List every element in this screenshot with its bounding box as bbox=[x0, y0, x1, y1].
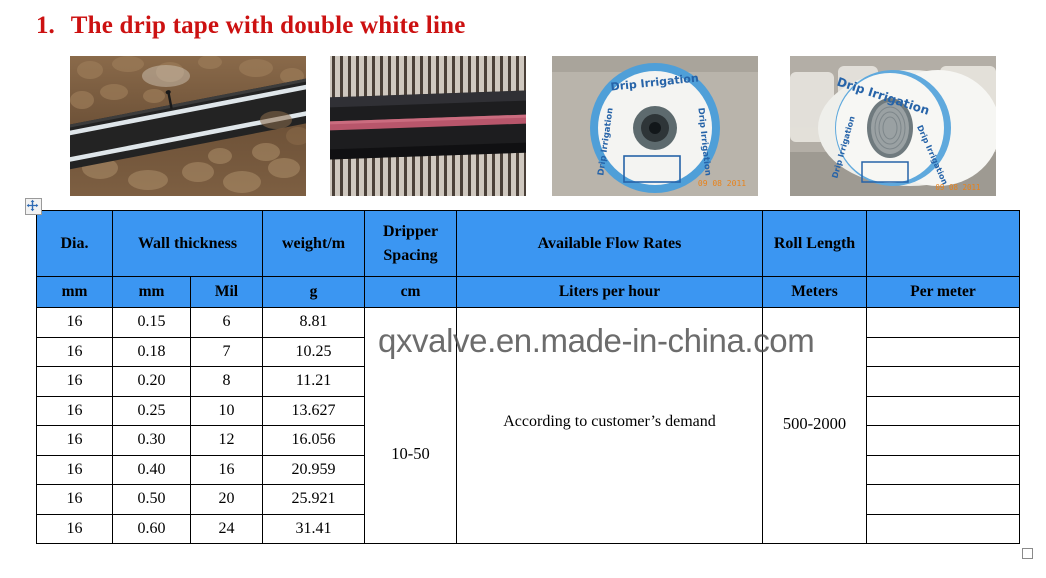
cell-weight: 8.81 bbox=[263, 308, 365, 338]
cell-dia: 16 bbox=[37, 485, 113, 515]
photo-drip-tape-closeup-on-ruler bbox=[330, 56, 526, 196]
cell-dripper-spacing-merged: 10-50 bbox=[365, 308, 457, 544]
cell-per-meter bbox=[867, 337, 1020, 367]
unit-spacing-cm: cm bbox=[365, 277, 457, 308]
cell-wall-mil: 24 bbox=[191, 514, 263, 544]
flow-rate-value: According to customer’s demand bbox=[459, 413, 760, 431]
spec-table-container: Dia. Wall thickness weight/m Dripper Spa… bbox=[36, 210, 1019, 544]
cell-wall-mm: 0.60 bbox=[113, 514, 191, 544]
title-number: 1. bbox=[36, 12, 55, 40]
cell-wall-mm: 0.25 bbox=[113, 396, 191, 426]
unit-wall-mm: mm bbox=[113, 277, 191, 308]
svg-text:09 08 2011: 09 08 2011 bbox=[698, 179, 746, 188]
drip-tape-spec-table: Dia. Wall thickness weight/m Dripper Spa… bbox=[36, 210, 1020, 544]
cell-dia: 16 bbox=[37, 337, 113, 367]
cell-wall-mil: 10 bbox=[191, 396, 263, 426]
page-title: 1. The drip tape with double white line bbox=[0, 0, 1046, 52]
cell-dia: 16 bbox=[37, 426, 113, 456]
cell-weight: 20.959 bbox=[263, 455, 365, 485]
table-resize-handle[interactable] bbox=[1022, 548, 1033, 559]
cell-dia: 16 bbox=[37, 367, 113, 397]
svg-text:09 08 2011: 09 08 2011 bbox=[935, 183, 980, 192]
cell-per-meter bbox=[867, 396, 1020, 426]
header-dia: Dia. bbox=[37, 211, 113, 277]
cell-per-meter bbox=[867, 308, 1020, 338]
product-photo-strip: Drip Irrigation Drip Irrigation Drip Irr… bbox=[0, 52, 1046, 202]
header-per-meter-top bbox=[867, 211, 1020, 277]
photo-drip-irrigation-spool-top-view: Drip Irrigation Drip Irrigation Drip Irr… bbox=[552, 56, 758, 196]
cell-per-meter bbox=[867, 455, 1020, 485]
cell-wall-mil: 7 bbox=[191, 337, 263, 367]
photo-drip-tape-in-soil bbox=[70, 56, 306, 196]
table-move-handle-icon[interactable] bbox=[25, 198, 42, 215]
cell-wall-mm: 0.15 bbox=[113, 308, 191, 338]
cell-dia: 16 bbox=[37, 308, 113, 338]
cell-dia: 16 bbox=[37, 514, 113, 544]
header-row-primary: Dia. Wall thickness weight/m Dripper Spa… bbox=[37, 211, 1020, 277]
cell-wall-mil: 20 bbox=[191, 485, 263, 515]
cell-dia: 16 bbox=[37, 455, 113, 485]
cell-weight: 25.921 bbox=[263, 485, 365, 515]
roll-length-value: 500-2000 bbox=[765, 414, 864, 434]
cell-dia: 16 bbox=[37, 396, 113, 426]
unit-weight-g: g bbox=[263, 277, 365, 308]
cell-per-meter bbox=[867, 485, 1020, 515]
cell-wall-mm: 0.20 bbox=[113, 367, 191, 397]
cell-per-meter bbox=[867, 514, 1020, 544]
photo-drip-irrigation-roll-angled: Drip Irrigation Drip Irrigation Drip Irr… bbox=[790, 56, 996, 196]
cell-wall-mil: 16 bbox=[191, 455, 263, 485]
cell-weight: 16.056 bbox=[263, 426, 365, 456]
cell-wall-mm: 0.30 bbox=[113, 426, 191, 456]
cell-wall-mil: 12 bbox=[191, 426, 263, 456]
cell-wall-mm: 0.18 bbox=[113, 337, 191, 367]
table-row: 16 0.15 6 8.81 10-50 According to custom… bbox=[37, 308, 1020, 338]
cell-wall-mil: 8 bbox=[191, 367, 263, 397]
unit-meters: Meters bbox=[763, 277, 867, 308]
cell-per-meter bbox=[867, 426, 1020, 456]
cell-weight: 10.25 bbox=[263, 337, 365, 367]
header-roll-length: Roll Length bbox=[763, 211, 867, 277]
unit-dia-mm: mm bbox=[37, 277, 113, 308]
cell-weight: 31.41 bbox=[263, 514, 365, 544]
title-text: The drip tape with double white line bbox=[71, 12, 466, 40]
cell-wall-mm: 0.50 bbox=[113, 485, 191, 515]
cell-weight: 11.21 bbox=[263, 367, 365, 397]
dripper-spacing-value: 10-50 bbox=[367, 444, 454, 464]
cell-wall-mil: 6 bbox=[191, 308, 263, 338]
cell-roll-length-merged: 500-2000 bbox=[763, 308, 867, 544]
header-wall-thickness: Wall thickness bbox=[113, 211, 263, 277]
header-available-flow-rates: Available Flow Rates bbox=[457, 211, 763, 277]
header-weight-per-m: weight/m bbox=[263, 211, 365, 277]
cell-weight: 13.627 bbox=[263, 396, 365, 426]
cell-wall-mm: 0.40 bbox=[113, 455, 191, 485]
cell-flow-rate-merged: According to customer’s demand bbox=[457, 308, 763, 544]
header-row-units: mm mm Mil g cm Liters per hour Meters Pe… bbox=[37, 277, 1020, 308]
header-dripper-spacing: Dripper Spacing bbox=[365, 211, 457, 277]
unit-liters-per-hour: Liters per hour bbox=[457, 277, 763, 308]
unit-per-meter: Per meter bbox=[867, 277, 1020, 308]
unit-wall-mil: Mil bbox=[191, 277, 263, 308]
cell-per-meter bbox=[867, 367, 1020, 397]
